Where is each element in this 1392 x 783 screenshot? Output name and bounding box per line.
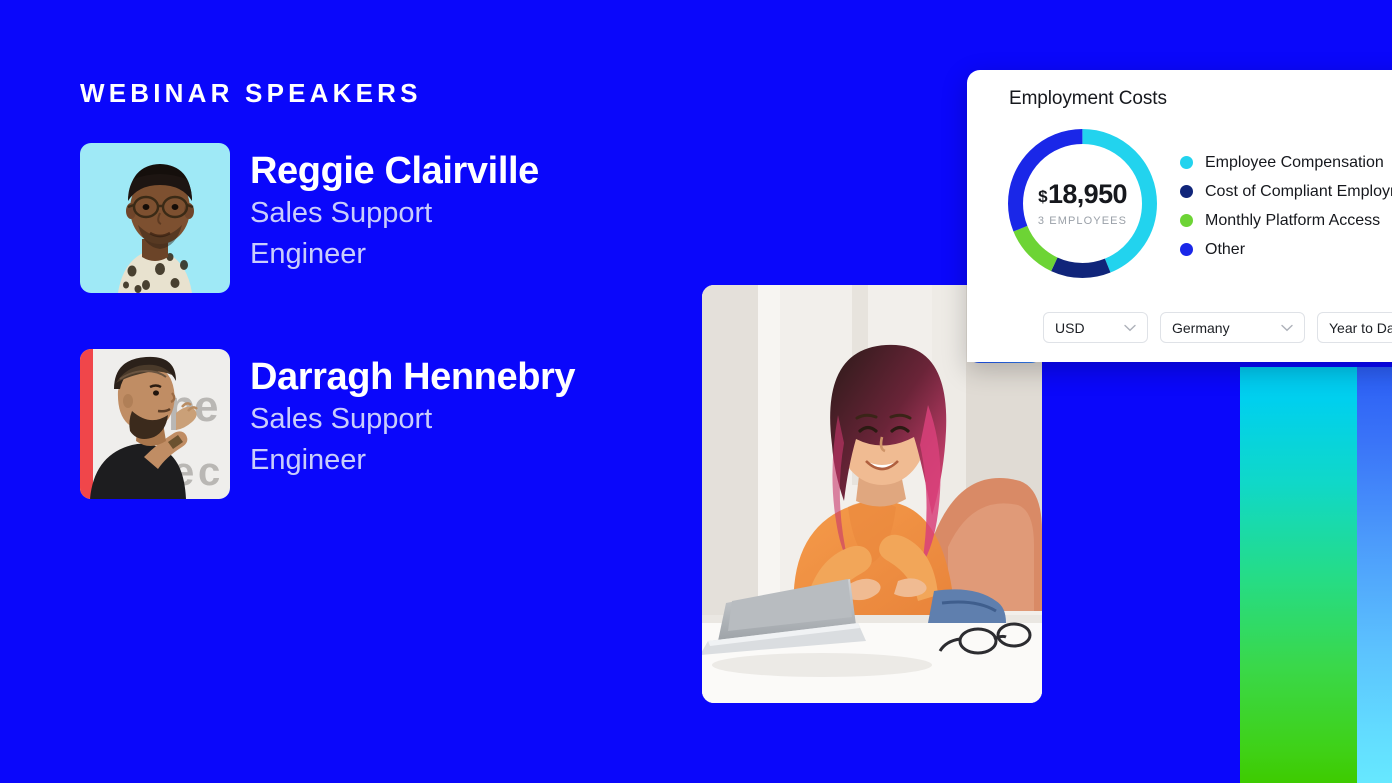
gradient-strip-cyan-green xyxy=(1240,367,1357,783)
speaker-role-line-1: Sales Support xyxy=(250,401,575,438)
employment-costs-donut-chart: $18,950 3 EMPLOYEES xyxy=(1001,122,1164,285)
speaker-role-line-2: Engineer xyxy=(250,236,539,273)
country-select[interactable]: Germany xyxy=(1160,312,1305,343)
speaker-card-2: x p e e c xyxy=(80,349,575,499)
legend-item-employee-compensation: Employee Compensation xyxy=(1180,148,1392,177)
legend-item-other: Other xyxy=(1180,235,1392,264)
currency-select-value: USD xyxy=(1055,320,1085,336)
svg-text:c: c xyxy=(198,450,220,494)
legend-item-monthly-platform-access: Monthly Platform Access xyxy=(1180,206,1392,235)
period-select[interactable]: Year to Date xyxy=(1317,312,1392,343)
svg-text:e: e xyxy=(194,382,218,431)
speaker-role-line-1: Sales Support xyxy=(250,195,539,232)
speaker-card-1: Reggie Clairville Sales Support Engineer xyxy=(80,143,539,293)
legend-item-cost-of-compliant-employment: Cost of Compliant Employm xyxy=(1180,177,1392,206)
employment-costs-card: Employment Costs $18,950 xyxy=(967,70,1392,362)
legend-label: Cost of Compliant Employm xyxy=(1205,183,1392,201)
legend-label: Other xyxy=(1205,241,1245,259)
gradient-strip-blue-cyan xyxy=(1357,367,1392,783)
chart-legend: Employee Compensation Cost of Compliant … xyxy=(1180,148,1392,264)
card-title: Employment Costs xyxy=(1009,88,1167,110)
legend-dot-icon xyxy=(1180,243,1193,256)
page-title: WEBINAR SPEAKERS xyxy=(80,78,422,109)
slide-canvas: WEBINAR SPEAKERS xyxy=(0,0,1392,783)
speaker-name: Reggie Clairville xyxy=(250,151,539,191)
speaker-role-line-2: Engineer xyxy=(250,442,575,479)
legend-dot-icon xyxy=(1180,156,1193,169)
speaker-info-2: Darragh Hennebry Sales Support Engineer xyxy=(250,349,575,479)
legend-label: Monthly Platform Access xyxy=(1205,212,1380,230)
chevron-down-icon xyxy=(1124,324,1136,332)
speaker-name: Darragh Hennebry xyxy=(250,357,575,397)
chevron-down-icon xyxy=(1281,324,1293,332)
legend-dot-icon xyxy=(1180,214,1193,227)
speaker-info-1: Reggie Clairville Sales Support Engineer xyxy=(250,143,539,273)
filter-bar: USD Germany Year to Date xyxy=(1043,312,1392,343)
legend-label: Employee Compensation xyxy=(1205,154,1384,172)
country-select-value: Germany xyxy=(1172,320,1230,336)
currency-select[interactable]: USD xyxy=(1043,312,1148,343)
legend-dot-icon xyxy=(1180,185,1193,198)
period-select-value: Year to Date xyxy=(1329,320,1392,336)
avatar-darragh-hennebry: x p e e c xyxy=(80,349,230,499)
avatar-reggie-clairville xyxy=(80,143,230,293)
